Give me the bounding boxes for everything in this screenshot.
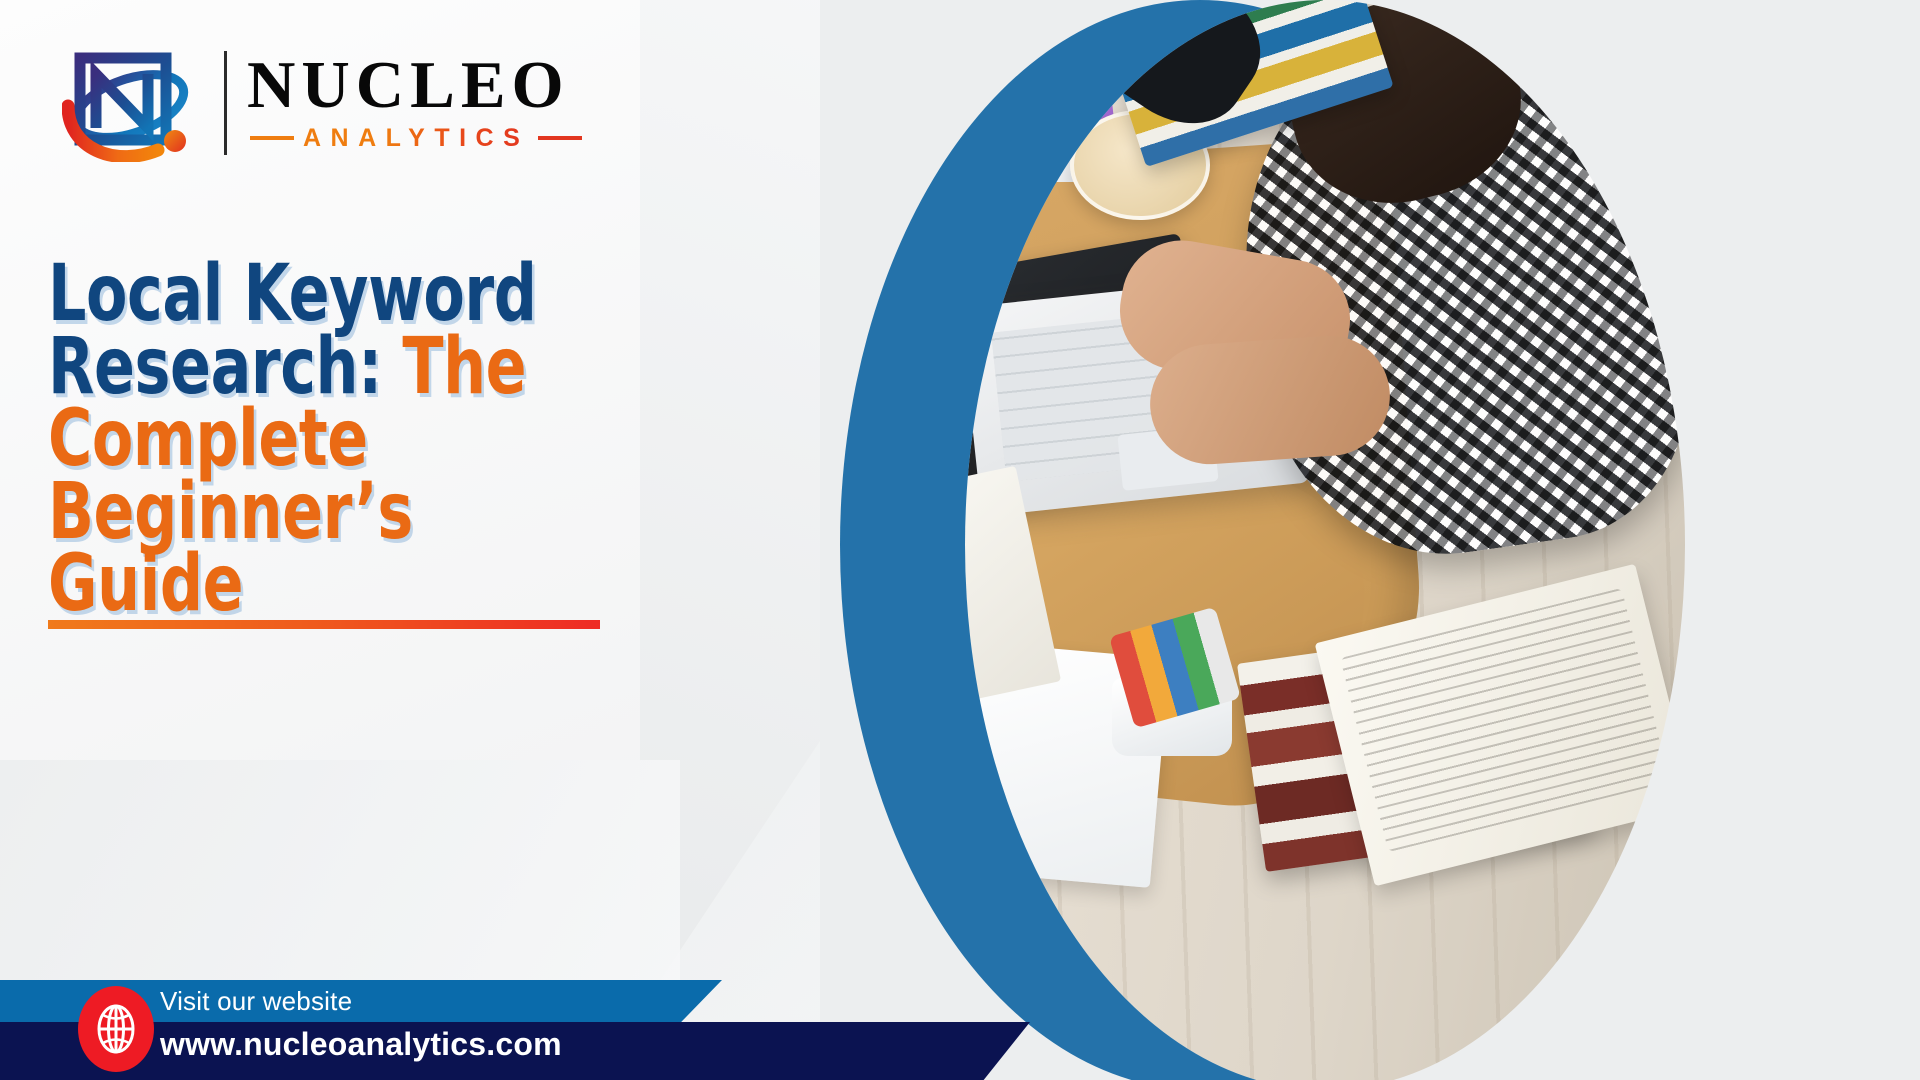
title-line-3: Complete Beginner’s	[48, 403, 684, 548]
nucleo-n-orbit-icon	[62, 44, 202, 162]
visit-website-label: Visit our website	[160, 986, 352, 1017]
banner-canvas: NUCLEO ANALYTICS Local Keyword Research:…	[0, 0, 1920, 1080]
photo-tablet	[870, 112, 1010, 277]
title-line-1: Local Keyword	[48, 258, 684, 331]
logo-divider	[224, 51, 227, 155]
hero-photo	[820, 0, 1920, 1080]
tagline-dash-right	[538, 136, 582, 140]
brand-logo[interactable]: NUCLEO ANALYTICS	[62, 44, 582, 162]
brand-tagline: ANALYTICS	[303, 124, 529, 153]
globe-icon	[78, 986, 154, 1072]
logo-wordmark: NUCLEO ANALYTICS	[247, 53, 582, 153]
website-url-link[interactable]: www.nucleoanalytics.com	[160, 1026, 562, 1063]
title-underline-rule	[48, 620, 600, 629]
title-line-4-text: Guide	[48, 539, 243, 629]
brand-name: NUCLEO	[247, 53, 582, 119]
page-title: Local Keyword Research: The Complete Beg…	[48, 258, 684, 621]
title-line-3-text: Complete Beginner’s	[48, 394, 413, 557]
photo-person-arm-right	[1146, 332, 1394, 468]
tagline-dash-left	[250, 136, 294, 140]
title-line-4: Guide	[48, 548, 684, 621]
title-line-2-orange: The	[402, 322, 526, 412]
title-line-2: Research: The	[48, 331, 684, 404]
brand-tagline-row: ANALYTICS	[247, 124, 582, 153]
